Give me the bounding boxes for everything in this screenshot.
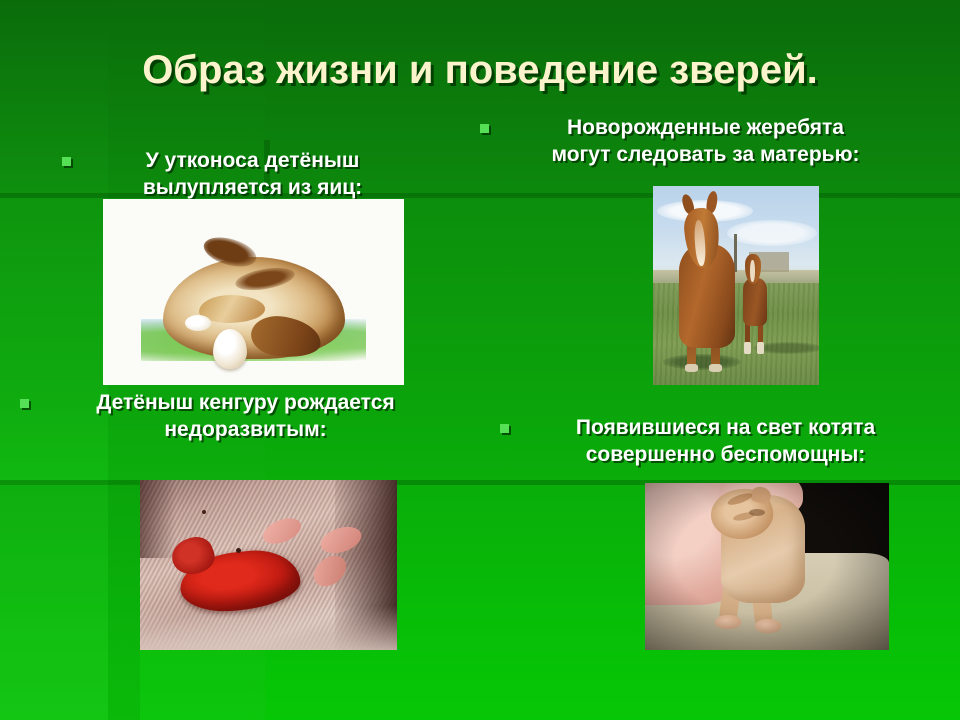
bullet-line-2: могут следовать за матерью:: [551, 143, 859, 166]
bullet-text-foal: Новорожденные жеребята могут следовать з…: [511, 115, 900, 169]
bullet-line-2: недоразвитым:: [164, 418, 326, 441]
newborn-kitten-photo: [645, 483, 889, 650]
slide-title: Образ жизни и поведение зверей.: [0, 48, 960, 93]
platypus-foot: [185, 315, 211, 331]
bullet-row: У утконоса детёныш вылупляется из яиц:: [62, 148, 412, 202]
bullet-line-1: Новорожденные жеребята: [567, 116, 844, 139]
mare-hoof: [709, 364, 722, 372]
bullet-text-kitten: Появившиеся на свет котята совершенно бе…: [531, 415, 920, 469]
square-bullet-icon: [480, 124, 489, 133]
foal-blaze: [750, 260, 755, 282]
fur-spot: [236, 548, 241, 553]
bullet-line-1: Появившиеся на свет котята: [576, 416, 875, 439]
background-bottom-block: [0, 485, 140, 720]
bullet-row: Новорожденные жеребята могут следовать з…: [480, 115, 900, 169]
bullet-text-platypus: У утконоса детёныш вылупляется из яиц:: [93, 148, 412, 202]
platypus-illustration: [103, 199, 404, 385]
mare-shadow: [663, 354, 741, 370]
bullet-block-platypus: У утконоса детёныш вылупляется из яиц:: [62, 148, 412, 202]
square-bullet-icon: [500, 424, 509, 433]
foal-hoof: [757, 342, 764, 354]
pasture-field: [653, 283, 819, 385]
fur-shadow-left: [140, 480, 176, 558]
platypus-egg: [213, 329, 247, 369]
presentation-slide: Образ жизни и поведение зверей. У утконо…: [0, 0, 960, 720]
bullet-block-kangaroo: Детёныш кенгуру рождается недоразвитым:: [20, 390, 440, 444]
horse-photo: [653, 186, 819, 385]
square-bullet-icon: [62, 157, 71, 166]
bullet-row: Детёныш кенгуру рождается недоразвитым:: [20, 390, 440, 444]
foal-body: [743, 278, 767, 326]
bullet-text-kangaroo: Детёныш кенгуру рождается недоразвитым:: [51, 390, 440, 444]
bullet-line-2: вылупляется из яиц:: [143, 176, 362, 199]
square-bullet-icon: [20, 399, 29, 408]
bullet-row: Появившиеся на свет котята совершенно бе…: [500, 415, 920, 469]
mare-hoof: [685, 364, 698, 372]
bullet-line-1: У утконоса детёныш: [146, 149, 360, 172]
bullet-line-2: совершенно беспомощны:: [586, 443, 866, 466]
bullet-block-kitten: Появившиеся на свет котята совершенно бе…: [500, 415, 920, 469]
cloud: [727, 220, 817, 246]
bullet-block-foal: Новорожденные жеребята могут следовать з…: [480, 115, 900, 169]
bullet-line-1: Детёныш кенгуру рождается: [96, 391, 394, 414]
photo-vignette: [645, 483, 889, 650]
foal-hoof: [744, 342, 751, 354]
fur-highlight-bottom: [140, 606, 397, 650]
kangaroo-joey-photo: [140, 480, 397, 650]
fur-spot: [202, 510, 206, 514]
